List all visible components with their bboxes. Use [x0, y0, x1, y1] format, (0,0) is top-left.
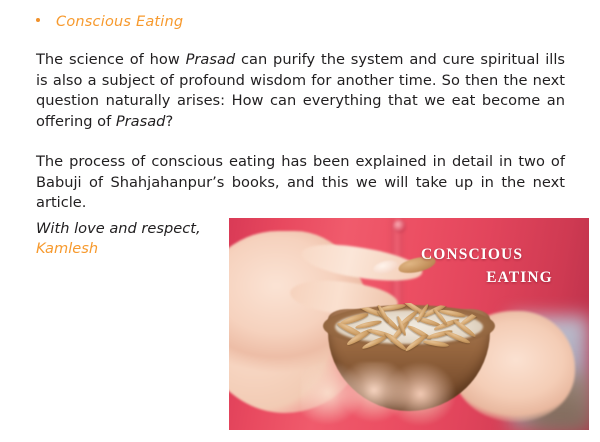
photo-almond-pile — [333, 303, 484, 354]
photo-caption-line2: EATING — [389, 266, 555, 289]
photo-inner: CONSCIOUS EATING — [229, 218, 589, 430]
almond — [422, 339, 448, 348]
heading-conscious-eating: Conscious Eating — [56, 14, 183, 30]
body-paragraph-1: The science of how Prasad can purify the… — [36, 50, 565, 132]
text-run: ? — [165, 113, 173, 130]
body-paragraph-2: The process of conscious eating has been… — [36, 152, 565, 214]
text-run: The process of conscious eating has been… — [36, 153, 565, 211]
almond — [361, 335, 388, 351]
text-run: The science of how — [36, 51, 186, 68]
photo-caption: CONSCIOUS EATING — [389, 243, 555, 289]
slide-canvas: Conscious Eating The science of how Pras… — [0, 0, 600, 442]
heading-bullet-row: Conscious Eating — [36, 14, 183, 30]
signature-closing: With love and respect, — [36, 219, 201, 240]
signature-name: Kamlesh — [36, 239, 98, 260]
photo-right-hand-fingers — [301, 362, 467, 426]
bullet-dot-icon — [36, 18, 40, 22]
photo-caption-line1: CONSCIOUS — [389, 243, 555, 266]
emphasised-term: Prasad — [186, 51, 236, 68]
photo-conscious-eating: CONSCIOUS EATING — [229, 218, 589, 430]
emphasised-term: Prasad — [116, 113, 166, 130]
